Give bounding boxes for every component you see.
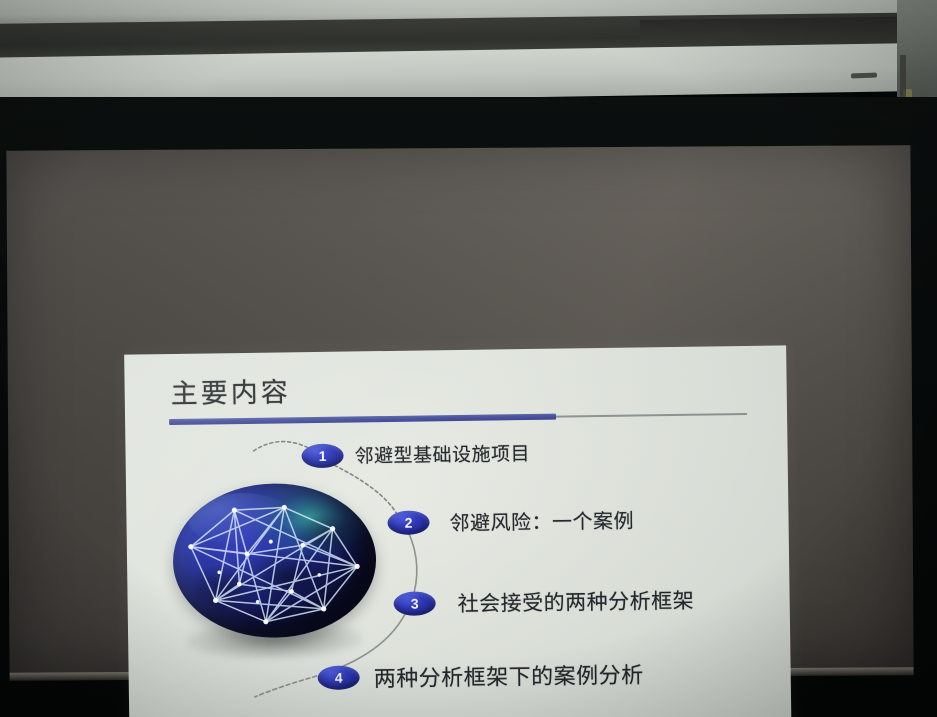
- title-divider: [169, 410, 747, 426]
- item-number: 1: [319, 447, 327, 463]
- slide-title: 主要内容: [170, 370, 291, 411]
- list-item[interactable]: 2 邻避风险：一个案例: [387, 505, 634, 537]
- title-divider-accent: [169, 414, 556, 425]
- item-number-badge: 3: [394, 591, 436, 616]
- item-number-badge: 4: [318, 665, 360, 690]
- item-number: 4: [335, 670, 343, 686]
- item-label: 邻避风险：一个案例: [449, 505, 634, 537]
- item-label: 两种分析框架下的案例分析: [373, 657, 643, 693]
- wall-mark-icon: [851, 73, 877, 79]
- item-label: 邻避型基础设施项目: [354, 439, 530, 468]
- projection-screen: 主要内容: [6, 145, 913, 675]
- item-number-badge: 2: [387, 510, 429, 535]
- list-item[interactable]: 1 邻避型基础设施项目: [301, 439, 530, 469]
- network-globe-graphic: [168, 478, 387, 671]
- list-item[interactable]: 3 社会接受的两种分析框架: [393, 585, 694, 619]
- item-number: 3: [411, 596, 419, 612]
- title-divider-line: [556, 413, 747, 417]
- item-number: 2: [405, 514, 413, 530]
- item-label: 社会接受的两种分析框架: [457, 585, 694, 618]
- item-number-badge: 1: [301, 443, 343, 468]
- list-item[interactable]: 4 两种分析框架下的案例分析: [317, 657, 643, 694]
- globe-sphere: [172, 482, 377, 639]
- globe-mesh-icon: [172, 482, 377, 639]
- slide-surface: 主要内容: [124, 345, 791, 717]
- projected-slide-photo: 主要内容: [0, 0, 937, 717]
